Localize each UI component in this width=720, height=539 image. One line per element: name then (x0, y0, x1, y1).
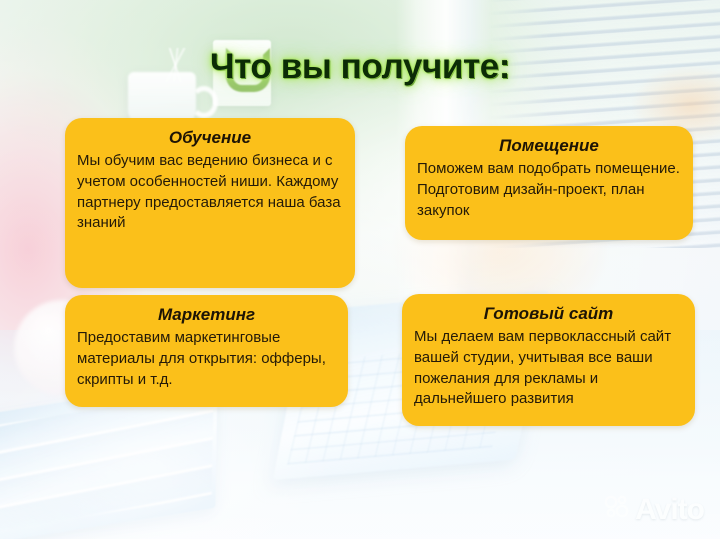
slide-canvas: Что вы получите: Обучение Мы обучим вас … (0, 0, 720, 539)
benefit-card-title: Помещение (417, 136, 681, 156)
avito-wordmark: Avito (635, 495, 704, 525)
benefit-card-body: Мы обучим вас ведению бизнеса и с учетом… (77, 151, 343, 234)
benefit-card-marketing: Маркетинг Предоставим маркетинговые мате… (65, 295, 348, 407)
page-title: Что вы получите: (0, 47, 720, 87)
benefit-card-body: Предоставим маркетинговые материалы для … (77, 328, 336, 390)
benefit-card-title: Маркетинг (77, 305, 336, 325)
benefit-card-title: Готовый сайт (414, 304, 683, 324)
avito-dots-icon (604, 494, 630, 525)
benefit-card-body: Поможем вам подобрать помещение. Подгото… (417, 159, 681, 221)
benefit-card-gotovyy-sait: Готовый сайт Мы делаем вам первоклассный… (402, 294, 695, 426)
benefit-card-body: Мы делаем вам первоклассный сайт вашей с… (414, 327, 683, 410)
benefit-card-title: Обучение (77, 128, 343, 148)
avito-watermark: Avito (604, 494, 704, 525)
background-mug-handle (190, 86, 218, 118)
benefit-card-pomeshenie: Помещение Поможем вам подобрать помещени… (405, 126, 693, 240)
benefit-card-obuchenie: Обучение Мы обучим вас ведению бизнеса и… (65, 118, 355, 288)
